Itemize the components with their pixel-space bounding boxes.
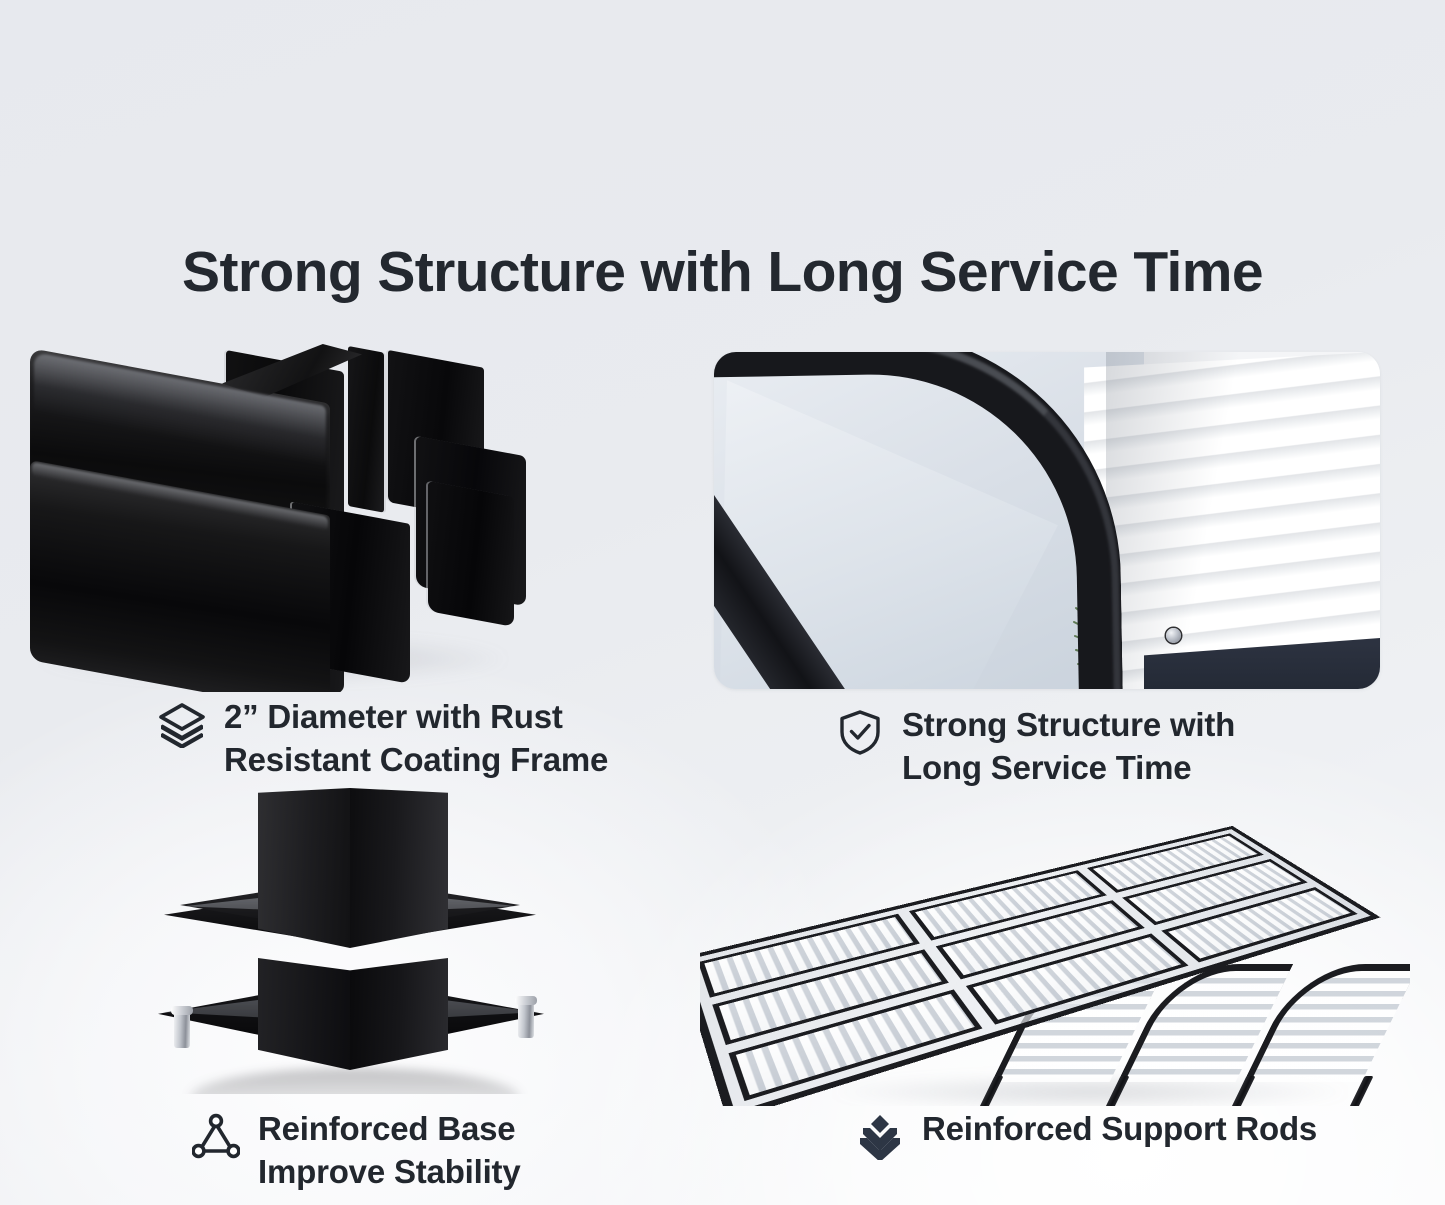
image-canopy-support-rods xyxy=(700,806,1410,1106)
steel-tube xyxy=(348,346,384,513)
steel-tube xyxy=(428,481,514,627)
anchor-bolt xyxy=(518,996,534,1038)
image-stacked-square-tubes xyxy=(8,336,648,692)
shield-check-icon xyxy=(836,708,884,756)
base-reflection xyxy=(190,1068,520,1094)
product-feature-infographic: Strong Structure with Long Service Time xyxy=(0,0,1445,1205)
feature-caption-diameter-rust-coating: 2” Diameter with Rust Resistant Coating … xyxy=(158,696,608,782)
sprout-badge-icon xyxy=(856,1112,904,1160)
feature-caption-support-rods: Reinforced Support Rods xyxy=(856,1108,1317,1160)
feature-caption-strong-structure: Strong Structure with Long Service Time xyxy=(836,704,1235,790)
feature-caption-label: 2” Diameter with Rust Resistant Coating … xyxy=(224,696,608,782)
triangle-nodes-icon xyxy=(192,1112,240,1160)
anchor-bolt xyxy=(174,1006,190,1048)
page-title: Strong Structure with Long Service Time xyxy=(0,243,1445,303)
feature-caption-reinforced-base: Reinforced Base Improve Stability xyxy=(192,1108,521,1194)
image-curved-frame-corner xyxy=(714,352,1380,689)
post-upper-face xyxy=(350,788,448,948)
layers-icon xyxy=(158,700,206,748)
bolt-icon xyxy=(1166,628,1181,643)
post-upper-face xyxy=(258,788,350,948)
post-lower-face xyxy=(350,958,448,1070)
wall-shading xyxy=(1106,352,1380,689)
feature-caption-label: Reinforced Support Rods xyxy=(922,1108,1317,1151)
feature-caption-label: Strong Structure with Long Service Time xyxy=(902,704,1235,790)
image-reinforced-base-plate xyxy=(150,782,570,1094)
feature-caption-label: Reinforced Base Improve Stability xyxy=(258,1108,521,1194)
post-lower-face xyxy=(258,958,350,1070)
